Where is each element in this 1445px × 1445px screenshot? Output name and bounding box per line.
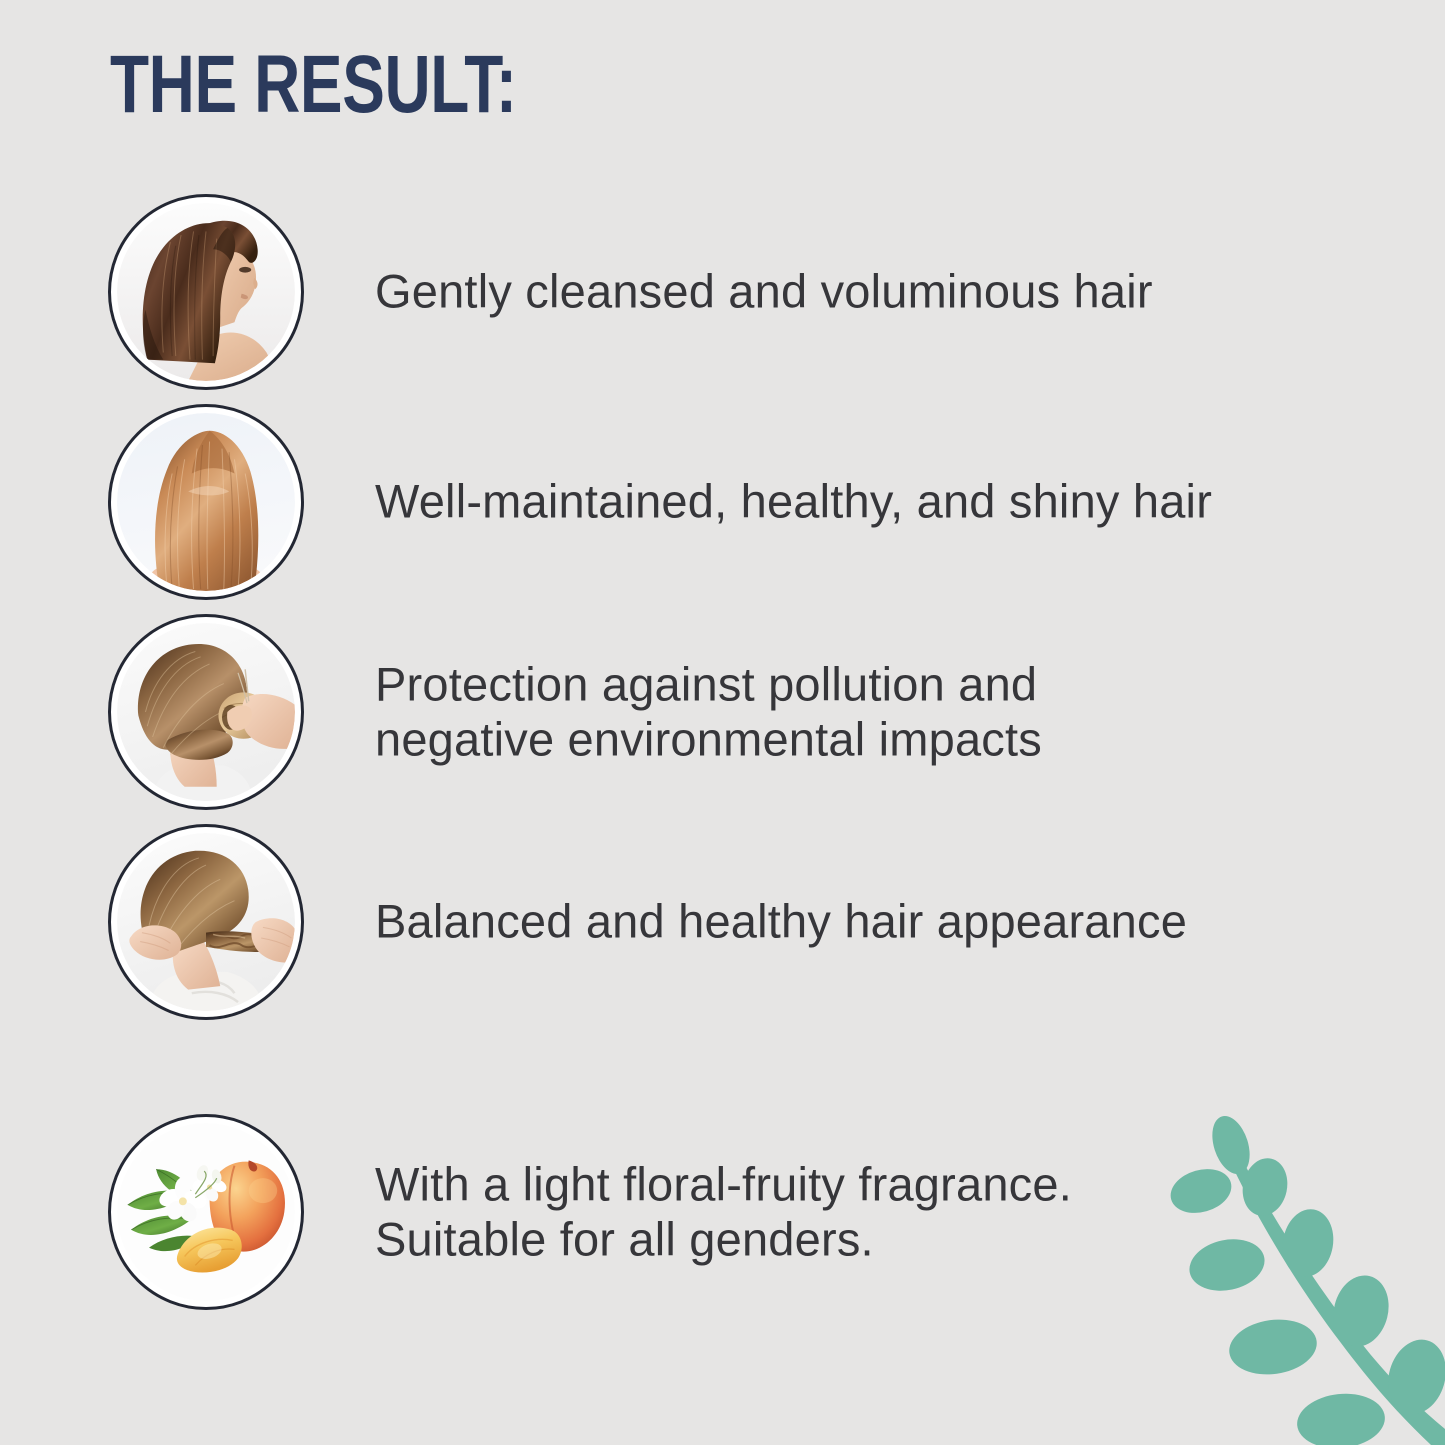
peach-blossom-fragrance-photo	[117, 1123, 295, 1301]
benefit-row: Well-maintained, healthy, and shiny hair	[0, 404, 1445, 600]
benefit-image-badge	[108, 614, 304, 810]
benefit-row: Gently cleansed and voluminous hair	[0, 194, 1445, 390]
benefit-image-frame	[117, 413, 295, 591]
benefit-row: Protection against pollution and negativ…	[0, 614, 1445, 810]
benefit-image-badge	[108, 194, 304, 390]
long-dark-brown-straight-hair-profile-photo	[117, 203, 295, 381]
benefit-image-badge	[108, 404, 304, 600]
benefit-row: Balanced and healthy hair appearance	[0, 824, 1445, 1020]
benefit-image-frame	[117, 623, 295, 801]
benefit-text: Protection against pollution and negativ…	[375, 657, 1335, 766]
page-title: THE RESULT:	[110, 44, 517, 126]
benefit-text: Well-maintained, healthy, and shiny hair	[375, 475, 1335, 530]
benefit-image-frame	[117, 203, 295, 381]
benefit-text: Gently cleansed and voluminous hair	[375, 265, 1335, 320]
hair-bun-styling-photo	[117, 623, 295, 801]
benefit-text: Balanced and healthy hair appearance	[375, 895, 1335, 950]
benefit-image-frame	[117, 833, 295, 1011]
result-infographic: THE RESULT:	[0, 0, 1445, 1445]
benefit-image-frame	[117, 1123, 295, 1301]
copper-straight-hair-back-view-photo	[117, 413, 295, 591]
benefit-row: With a light floral-fruity fragrance. Su…	[0, 1114, 1445, 1310]
benefit-image-badge	[108, 1114, 304, 1310]
hair-braiding-photo	[117, 833, 295, 1011]
benefit-text: With a light floral-fruity fragrance. Su…	[375, 1157, 1335, 1266]
benefit-image-badge	[108, 824, 304, 1020]
